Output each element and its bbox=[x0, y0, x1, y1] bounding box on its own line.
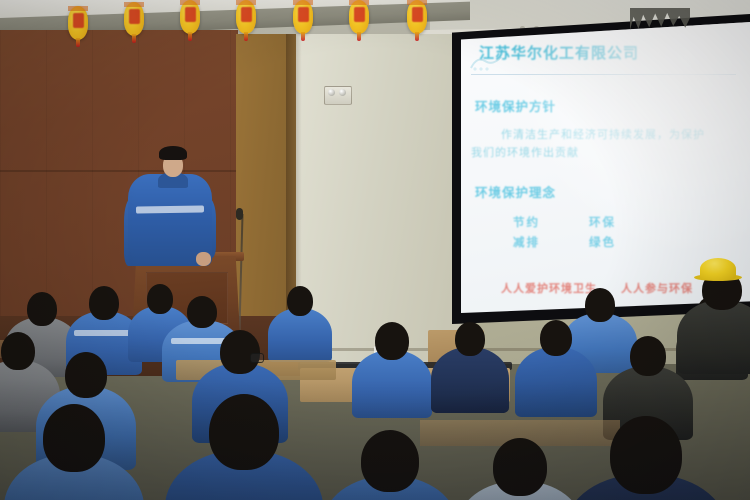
lantern-tassel bbox=[301, 32, 305, 41]
lantern-body bbox=[180, 0, 200, 34]
slide-divider bbox=[471, 74, 736, 75]
slide-keyword: 环保 bbox=[589, 214, 616, 230]
audience-head bbox=[89, 286, 119, 320]
lantern bbox=[124, 2, 144, 36]
yellow-hard-hat-icon bbox=[700, 258, 736, 280]
slide-body-line-2: 我们的环境作出贡献 bbox=[471, 144, 579, 160]
lantern-tassel bbox=[132, 34, 136, 43]
presenter-jacket-stripe bbox=[136, 205, 204, 213]
audience-head bbox=[630, 336, 666, 376]
audience-head bbox=[540, 320, 572, 356]
audience-head bbox=[493, 438, 547, 496]
emergency-exit-light-icon bbox=[324, 86, 352, 105]
audience-member bbox=[457, 438, 583, 500]
audience-head bbox=[43, 404, 105, 472]
audience-member bbox=[352, 322, 432, 428]
audience-head bbox=[1, 332, 35, 370]
slide-title: 江苏华尔化工有限公司 bbox=[479, 42, 639, 63]
lantern-tassel bbox=[415, 32, 419, 41]
audience-member bbox=[4, 404, 144, 500]
audience-member bbox=[566, 416, 726, 500]
audience-head bbox=[585, 288, 615, 322]
audience-head bbox=[209, 394, 279, 470]
lantern bbox=[407, 0, 427, 34]
slide-keyword: 减排 bbox=[513, 234, 540, 250]
audience-shoulders bbox=[352, 350, 432, 418]
audience-shoulders bbox=[677, 300, 750, 374]
conference-room-photo: 江苏华尔化工有限公司 环境保护方针 作清洁生产和经济可持续发展，为保护 我们的环… bbox=[0, 0, 750, 500]
audience-member bbox=[323, 430, 457, 500]
lantern bbox=[236, 0, 256, 34]
slide-heading-policy: 环境保护方针 bbox=[475, 96, 556, 115]
lantern-tassel bbox=[244, 32, 248, 41]
microphone-icon bbox=[236, 208, 243, 220]
lantern-body bbox=[236, 0, 256, 34]
lantern-body bbox=[68, 6, 88, 40]
audience-head bbox=[287, 286, 313, 316]
audience-shoulders bbox=[431, 347, 509, 413]
presenter-hand bbox=[196, 252, 211, 266]
audience-member bbox=[165, 394, 323, 500]
audience-head bbox=[375, 322, 409, 360]
audience-head bbox=[610, 416, 682, 494]
lantern bbox=[180, 0, 200, 34]
slide-keyword: 节约 bbox=[513, 214, 540, 230]
audience-head bbox=[455, 322, 485, 356]
audience-head bbox=[361, 430, 419, 492]
audience-head bbox=[65, 352, 107, 398]
eyeglasses-icon bbox=[250, 353, 264, 363]
lantern bbox=[293, 0, 313, 34]
lantern-body bbox=[407, 0, 427, 34]
audience-member bbox=[677, 270, 750, 384]
lantern-tassel bbox=[188, 32, 192, 41]
presenter-hair bbox=[159, 146, 187, 160]
company-logo-icon bbox=[469, 52, 503, 72]
lantern bbox=[68, 6, 88, 40]
audience-shoulders bbox=[515, 347, 597, 417]
audience-member bbox=[431, 322, 509, 422]
lantern bbox=[349, 0, 369, 34]
audience-head bbox=[187, 296, 217, 328]
lantern-body bbox=[124, 2, 144, 36]
lantern-body bbox=[293, 0, 313, 34]
slide-heading-concept: 环境保护理念 bbox=[475, 182, 556, 201]
lantern-tassel bbox=[76, 38, 80, 47]
uniform-reflective-stripe bbox=[74, 330, 133, 336]
slide-body-line-1: 作清洁生产和经济可持续发展，为保护 bbox=[501, 126, 705, 142]
audience-member bbox=[515, 320, 597, 426]
slide-keyword: 绿色 bbox=[589, 234, 616, 250]
audience-head bbox=[27, 292, 57, 326]
lantern-body bbox=[349, 0, 369, 34]
lantern-tassel bbox=[357, 32, 361, 41]
